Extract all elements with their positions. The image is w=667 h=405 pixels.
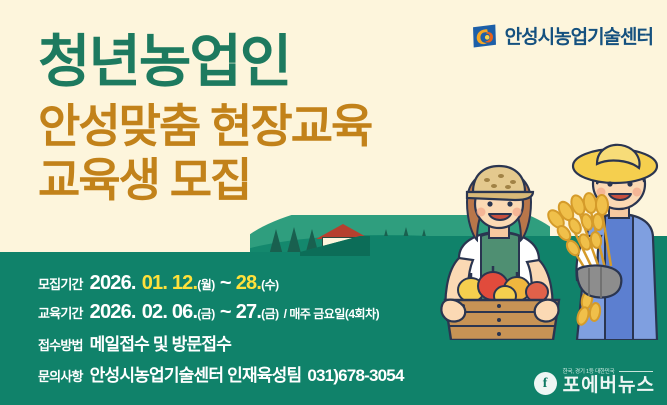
recruitment-period-label: 모집기간 (38, 274, 83, 293)
watermark-rule (619, 371, 653, 372)
application-method-value: 메일접수 및 방문접수 (90, 330, 231, 355)
farmer-with-wheat-sheaf (545, 145, 657, 340)
news-watermark: f 한국, 경기 1등 대한민국 포에버뉴스 (534, 367, 655, 395)
recruitment-period-start-day: (월) (197, 276, 215, 293)
application-method-row: 접수방법 메일접수 및 방문접수 (38, 330, 508, 355)
contact-row: 문의사항 안성시농업기술센터 인재육성팀 031)678-3054 (38, 361, 508, 386)
training-period-row: 교육기간 2026. 02. 06. (금) ~ 27. (금) / 매주 금요… (38, 301, 508, 324)
recruitment-period-tilde: ~ (220, 272, 231, 295)
headline-line-1: 청년농업인 (38, 34, 498, 91)
watermark-tagline-row: 한국, 경기 1등 대한민국 (563, 367, 655, 375)
contact-organization: 안성시농업기술센터 인재육성팀 (90, 361, 302, 386)
promotional-banner: 안성시농업기술센터 청년농업인 안성맞춤 현장교육 교육생 모집 (0, 0, 667, 405)
training-period-note: / 매주 금요일(4회차) (284, 305, 379, 322)
recruitment-period-row: 모집기간 2026. 01. 12. (월) ~ 28. (수) (38, 272, 508, 295)
organization-name: 안성시농업기술센터 (505, 22, 653, 49)
training-period-end: 27. (236, 301, 261, 324)
headline-block: 청년농업인 안성맞춤 현장교육 교육생 모집 (38, 34, 498, 203)
training-period-end-day: (금) (261, 305, 279, 322)
organization-logo: 안성시농업기술센터 (471, 22, 653, 49)
contact-label: 문의사항 (38, 366, 83, 385)
application-method-label: 접수방법 (38, 335, 83, 354)
training-period-year: 2026. (90, 301, 136, 324)
headline-line-3: 교육생 모집 (38, 157, 498, 203)
training-period-start-day: (금) (197, 305, 215, 322)
training-period-start: 02. 06. (142, 301, 198, 324)
headline-line-2: 안성맞춤 현장교육 (38, 103, 498, 149)
info-block: 모집기간 2026. 01. 12. (월) ~ 28. (수) 교육기간 20… (38, 272, 508, 392)
recruitment-period-end: 28. (236, 272, 261, 295)
watermark-name: 포에버뉴스 (563, 376, 655, 395)
watermark-tagline: 한국, 경기 1등 대한민국 (563, 367, 615, 375)
forever-news-logo-icon: f (534, 372, 557, 395)
watermark-text-group: 한국, 경기 1등 대한민국 포에버뉴스 (563, 367, 655, 395)
recruitment-period-end-day: (수) (261, 276, 279, 293)
training-period-tilde: ~ (220, 301, 231, 324)
training-period-label: 교육기간 (38, 303, 83, 322)
recruitment-period-year: 2026. (90, 272, 136, 295)
contact-phone: 031)678-3054 (307, 366, 403, 386)
recruitment-period-start: 01. 12. (142, 272, 198, 295)
